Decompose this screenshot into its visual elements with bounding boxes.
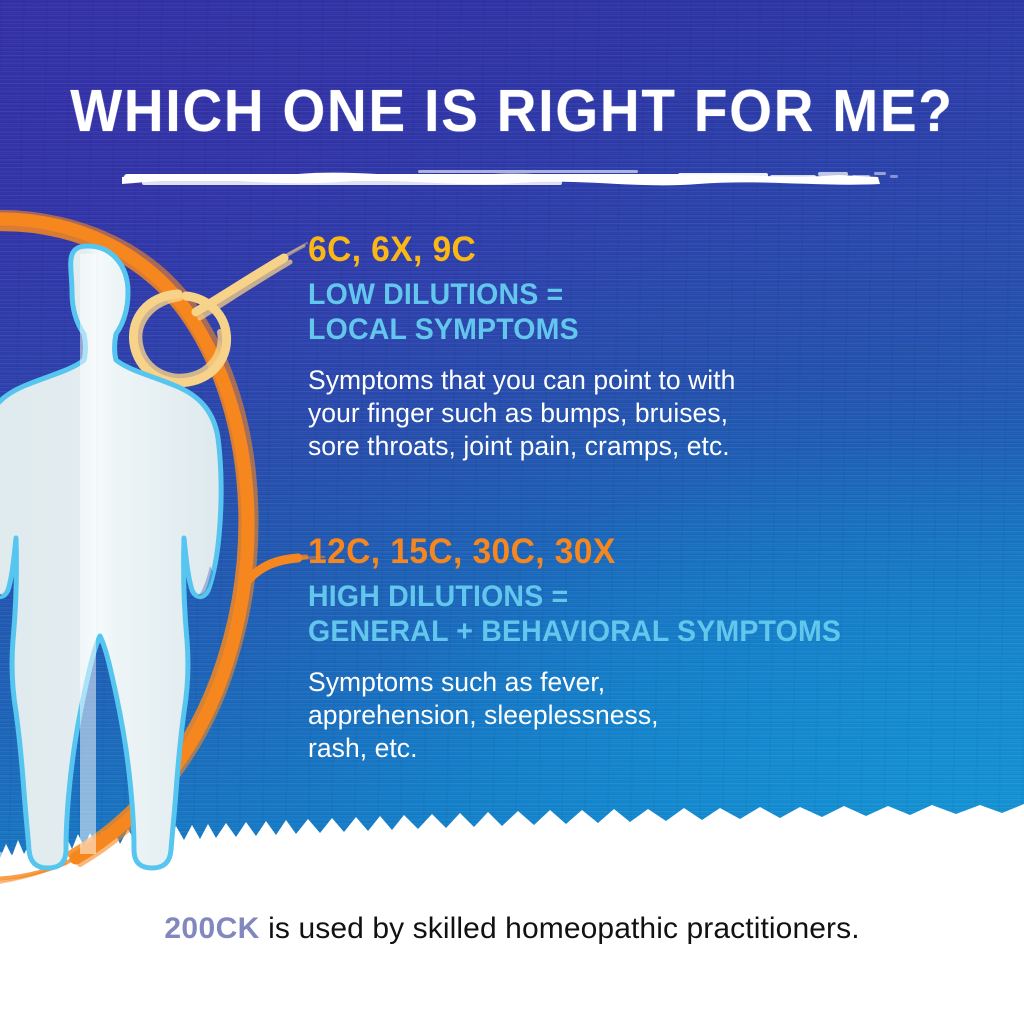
dilution-body-high: Symptoms such as fever, apprehension, sl… [308,666,869,765]
dilution-body-low: Symptoms that you can point to with your… [308,364,735,463]
dose-label-low: 6C, 6X, 9C [308,232,718,268]
dilution-block-high: 12C, 15C, 30C, 30X HIGH DILUTIONS = GENE… [308,534,869,765]
page-title: WHICH ONE IS RIGHT FOR ME? [36,82,988,141]
dose-label-high: 12C, 15C, 30C, 30X [308,534,847,570]
footer-note: 200CK is used by skilled homeopathic pra… [0,912,1024,946]
human-body-silhouette [0,236,238,896]
brush-underline-icon [118,166,908,188]
footer-text: is used by skilled homeopathic practitio… [260,912,860,945]
dilution-subtitle-low: LOW DILUTIONS = LOCAL SYMPTOMS [308,277,714,347]
infographic-poster: WHICH ONE IS RIGHT FOR ME? 6C, 6X, 9C LO… [0,0,1024,1024]
footer-code: 200CK [164,912,259,945]
dilution-subtitle-high: HIGH DILUTIONS = GENERAL + BEHAVIORAL SY… [308,579,841,649]
dilution-block-low: 6C, 6X, 9C LOW DILUTIONS = LOCAL SYMPTOM… [308,232,735,463]
